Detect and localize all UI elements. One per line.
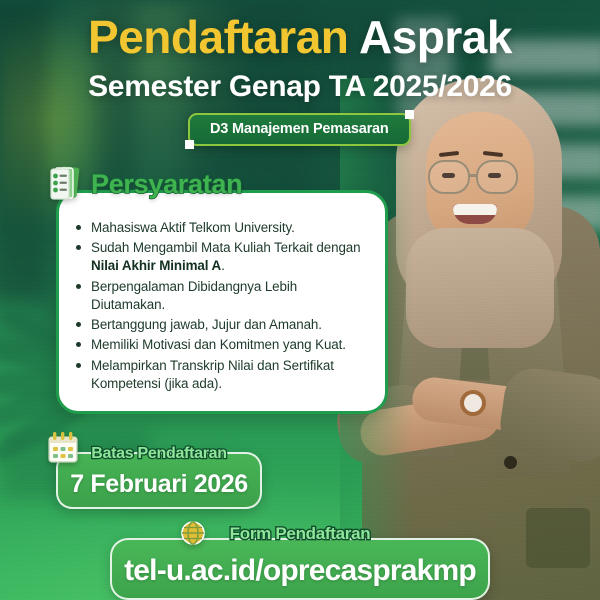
headline-secondary: Asprak xyxy=(359,11,512,63)
requirement-text: . xyxy=(221,258,225,273)
requirements-list: Mahasiswa Aktif Telkom University. Sudah… xyxy=(73,219,371,393)
program-badge: D3 Manajemen Pemasaran xyxy=(188,113,411,146)
requirement-text: Melampirkan Transkrip Nilai dan Sertifik… xyxy=(91,358,334,391)
poster-subtitle: Semester Genap TA 2025/2026 xyxy=(0,70,600,104)
requirements-card: Persyaratan Mahasiswa Aktif Telkom Unive… xyxy=(56,190,388,414)
requirements-title: Persyaratan xyxy=(91,169,242,200)
form-label: Form Pendaftaran xyxy=(112,524,488,544)
requirement-text-bold: Nilai Akhir Minimal A xyxy=(91,258,221,273)
requirement-item: Memiliki Motivasi dan Komitmen yang Kuat… xyxy=(73,336,371,354)
requirement-text: Memiliki Motivasi dan Komitmen yang Kuat… xyxy=(91,337,346,352)
requirement-text: Sudah Mengambil Mata Kuliah Terkait deng… xyxy=(91,240,361,255)
deadline-date: 7 Februari 2026 xyxy=(68,470,250,499)
poster-canvas: Pendaftaran Asprak Semester Genap TA 202… xyxy=(0,0,600,600)
requirement-item: Melampirkan Transkrip Nilai dan Sertifik… xyxy=(73,357,371,393)
requirement-text: Mahasiswa Aktif Telkom University. xyxy=(91,220,295,235)
deadline-block: Batas Pendaftaran 7 Februari 2026 xyxy=(56,452,262,509)
checklist-document-icon xyxy=(46,163,88,205)
badge-corner-marker xyxy=(185,140,194,149)
headline-primary: Pendaftaran xyxy=(88,11,348,63)
program-badge-label: D3 Manajemen Pemasaran xyxy=(210,121,389,137)
requirement-item: Berpengalaman Dibidangnya Lebih Diutamak… xyxy=(73,278,371,314)
badge-corner-marker xyxy=(405,110,414,119)
requirement-text: Berpengalaman Dibidangnya Lebih Diutamak… xyxy=(91,279,297,312)
requirement-item: Bertanggung jawab, Jujur dan Amanah. xyxy=(73,316,371,334)
requirement-text: Bertanggung jawab, Jujur dan Amanah. xyxy=(91,317,322,332)
deadline-label: Batas Pendaftaran xyxy=(58,445,260,463)
requirement-item: Sudah Mengambil Mata Kuliah Terkait deng… xyxy=(73,239,371,275)
poster-headline: Pendaftaran Asprak xyxy=(0,14,600,61)
requirements-section: Persyaratan Mahasiswa Aktif Telkom Unive… xyxy=(56,190,388,414)
requirement-item: Mahasiswa Aktif Telkom University. xyxy=(73,219,371,237)
registration-url[interactable]: tel-u.ac.id/oprecasprakmp xyxy=(122,554,478,588)
registration-form-block[interactable]: Form Pendaftaran tel-u.ac.id/oprecasprak… xyxy=(110,538,490,600)
